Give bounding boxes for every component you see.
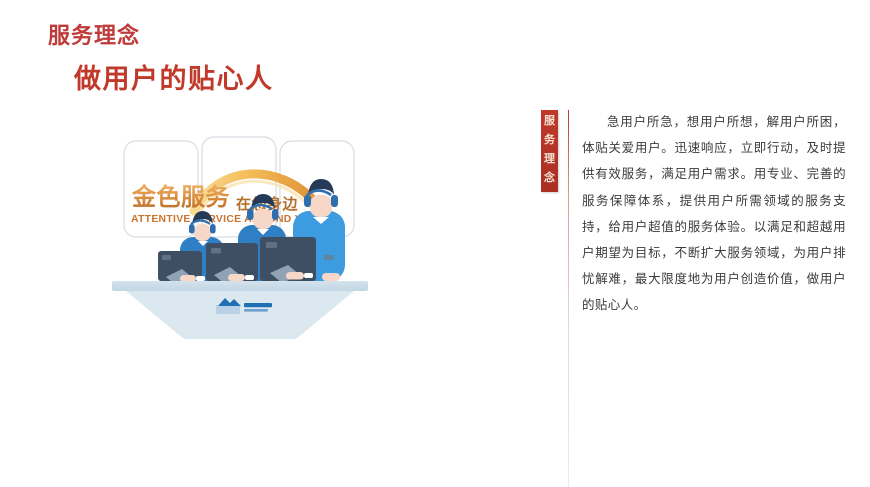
vertical-section-badge: 服 务 理 念: [541, 110, 558, 192]
service-philosophy-paragraph: 急用户所急，想用户所想，解用户所困，体贴关爱用户。迅速响应，立即行动，及时提供有…: [582, 109, 846, 319]
badge-char-1: 服: [541, 112, 558, 131]
page-title: 服务理念: [48, 18, 140, 50]
right-content-column: 服 务 理 念 急用户所急，想用户所想，解用户所困，体贴关爱用户。迅速响应，立即…: [536, 100, 846, 487]
vertical-divider: [568, 110, 569, 487]
svg-text:ATTENTIVE SERVICE AROUND YOU: ATTENTIVE SERVICE AROUND YOU: [131, 214, 318, 225]
slide-root: 服务理念 做用户的贴心人: [0, 0, 870, 487]
page-subtitle: 做用户的贴心人: [74, 57, 274, 96]
badge-char-2: 务: [541, 131, 558, 150]
svg-text:金色服务: 金色服务: [131, 183, 230, 211]
badge-char-3: 理: [541, 150, 558, 169]
call-center-illustration: 金色服务 在您身边 ATTENTIVE SERVICE AROUND YOU: [110, 125, 370, 355]
badge-char-4: 念: [541, 169, 558, 188]
